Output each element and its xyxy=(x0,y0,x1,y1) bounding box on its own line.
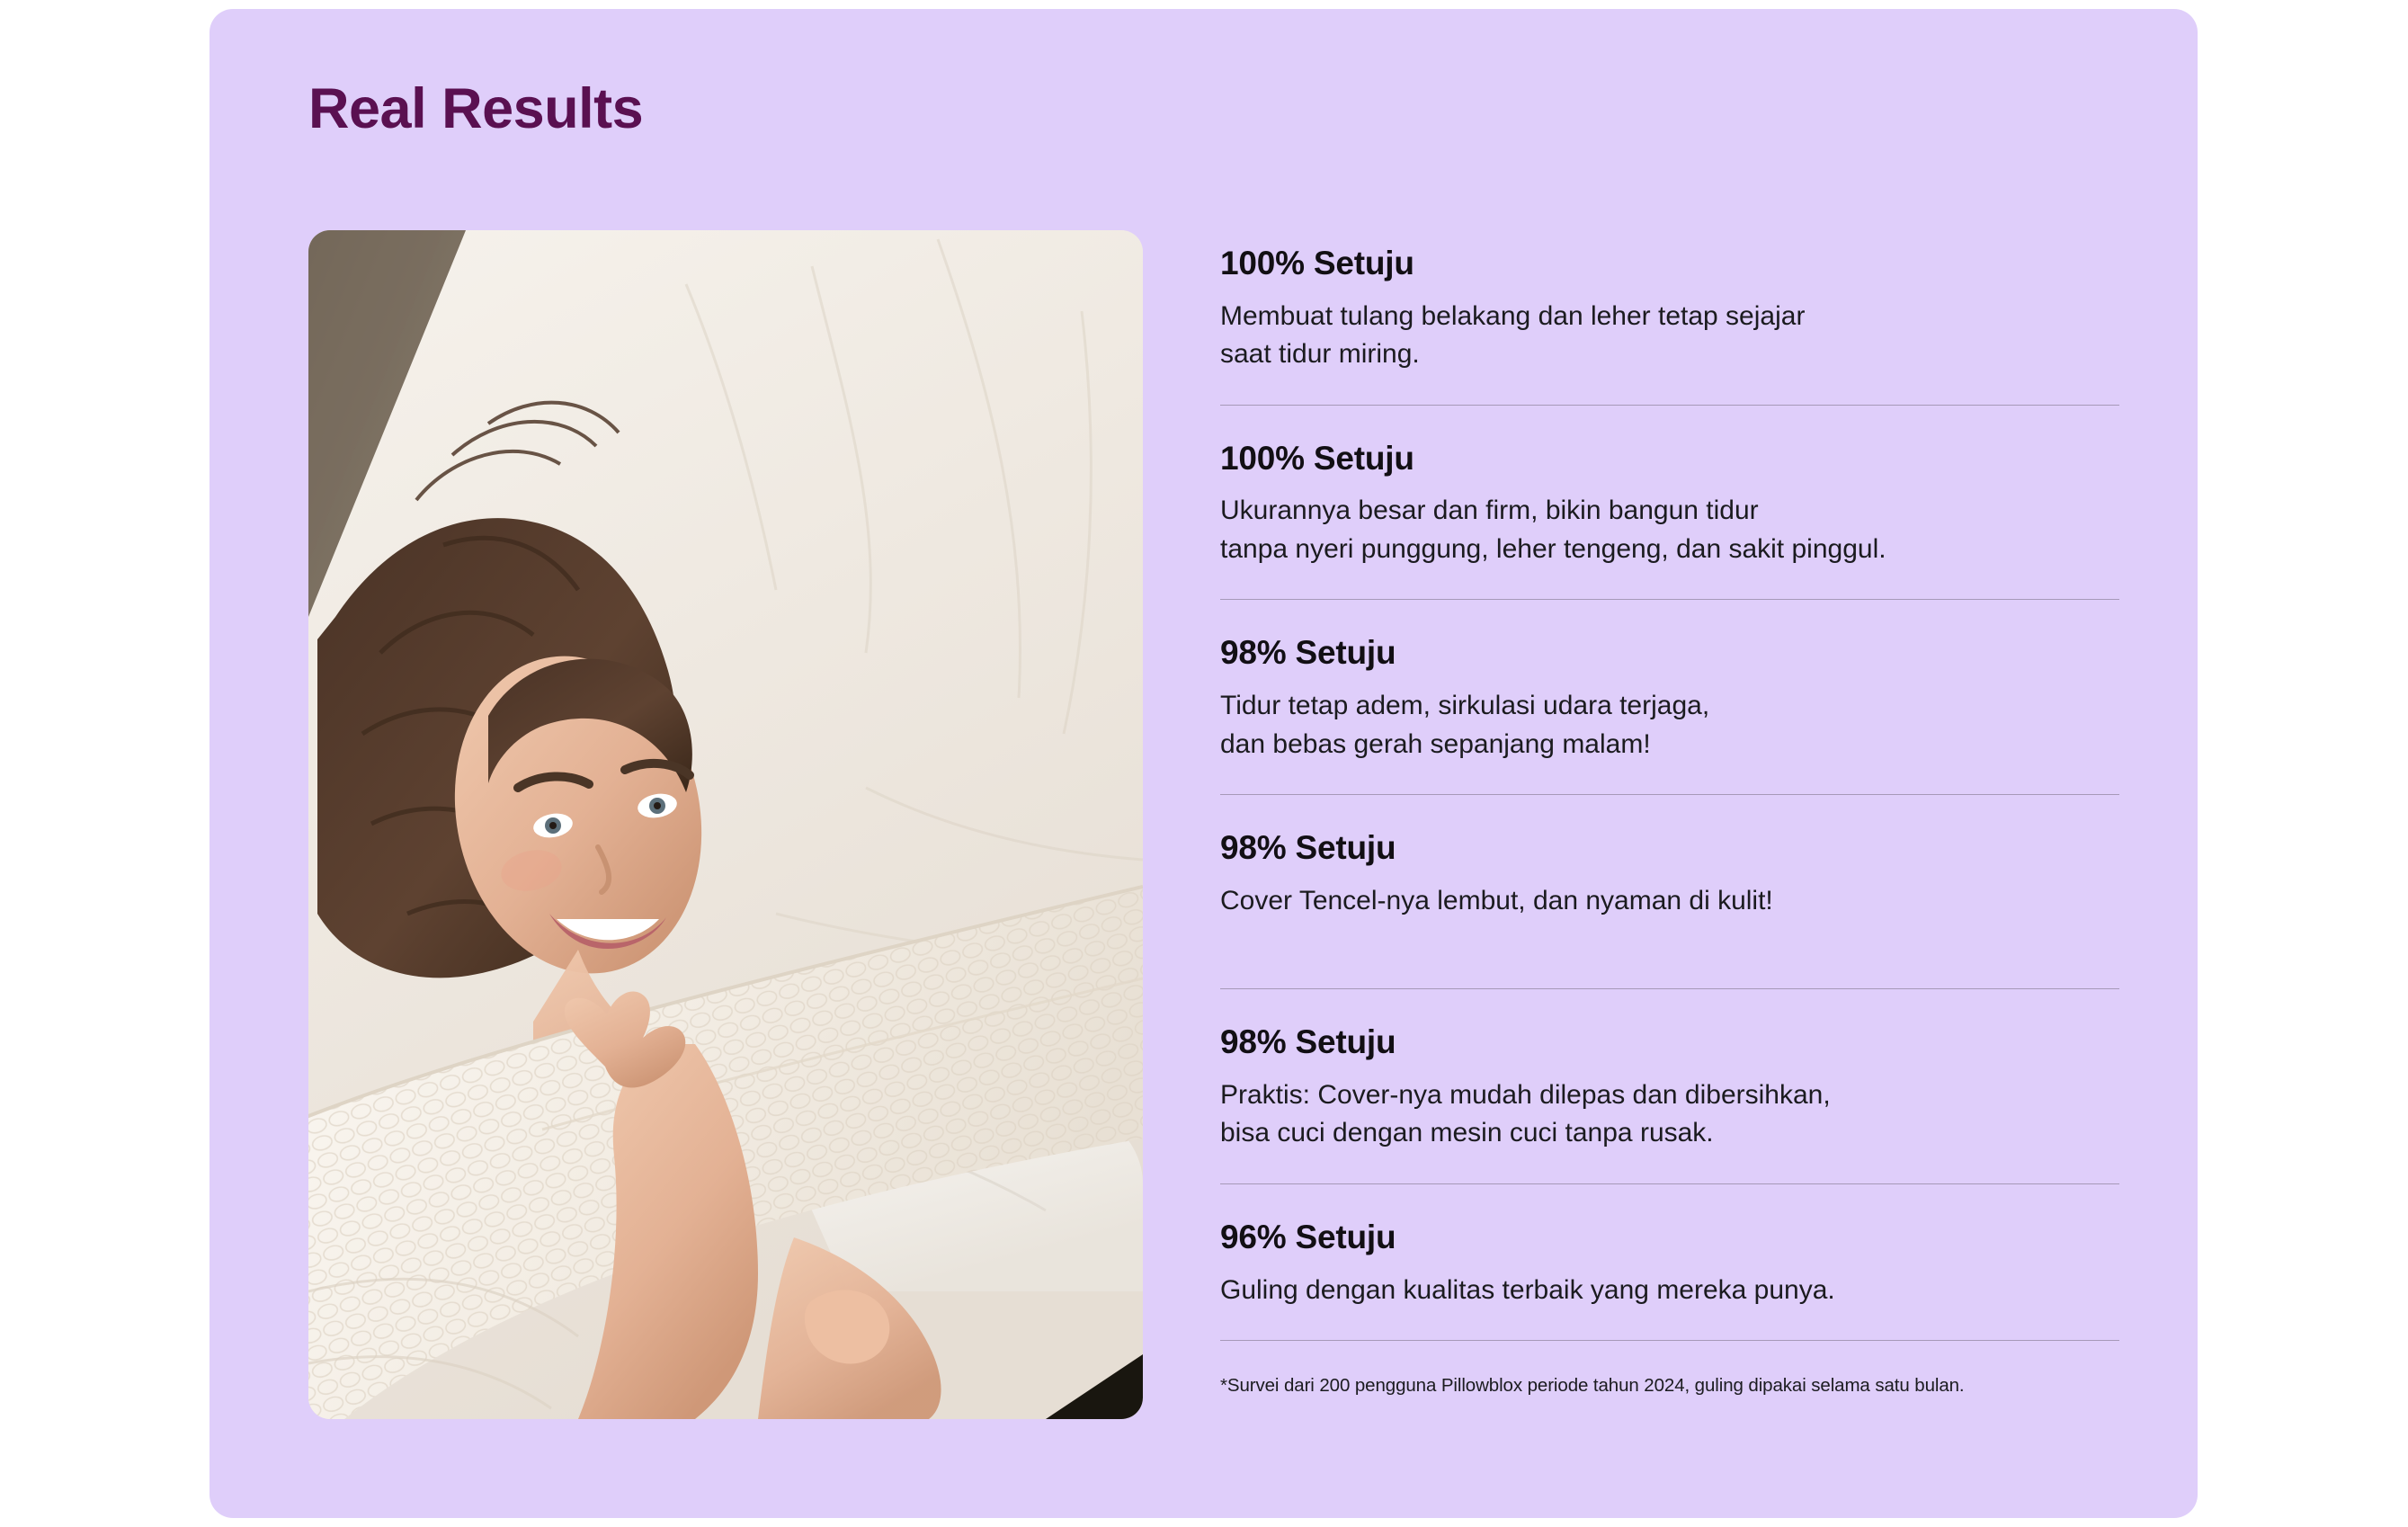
result-percent: 98% Setuju xyxy=(1220,1023,2119,1062)
result-item: 98% Setuju Praktis: Cover-nya mudah dile… xyxy=(1220,1023,2119,1153)
spacer xyxy=(1220,1184,2119,1219)
result-divider xyxy=(1220,405,2119,406)
result-percent: 100% Setuju xyxy=(1220,245,2119,283)
spacer xyxy=(1220,406,2119,440)
result-percent: 98% Setuju xyxy=(1220,829,2119,868)
result-description: Guling dengan kualitas terbaik yang mere… xyxy=(1220,1272,2119,1310)
spacer xyxy=(1220,795,2119,829)
spacer xyxy=(1220,1153,2119,1183)
result-divider xyxy=(1220,1183,2119,1184)
result-item: 96% Setuju Guling dengan kualitas terbai… xyxy=(1220,1219,2119,1309)
photo-illustration xyxy=(308,230,1143,1419)
result-percent: 98% Setuju xyxy=(1220,634,2119,673)
result-percent: 100% Setuju xyxy=(1220,440,2119,478)
result-divider xyxy=(1220,599,2119,600)
result-description: Membuat tulang belakang dan leher tetap … xyxy=(1220,298,2119,374)
result-description: Ukurannya besar dan firm, bikin bangun t… xyxy=(1220,492,2119,568)
result-item: 98% Setuju Cover Tencel-nya lembut, dan … xyxy=(1220,829,2119,920)
results-list: 100% Setuju Membuat tulang belakang dan … xyxy=(1220,245,2119,1399)
lifestyle-photo xyxy=(308,230,1143,1419)
spacer xyxy=(1220,374,2119,405)
survey-footnote: *Survei dari 200 pengguna Pillowblox per… xyxy=(1220,1373,2119,1399)
spacer xyxy=(1220,763,2119,794)
spacer xyxy=(1220,568,2119,599)
real-results-card: Real Results xyxy=(210,9,2198,1518)
page-root: Real Results xyxy=(0,0,2408,1527)
result-item: 98% Setuju Tidur tetap adem, sirkulasi u… xyxy=(1220,634,2119,763)
spacer xyxy=(1220,920,2119,988)
result-divider xyxy=(1220,988,2119,989)
spacer xyxy=(1220,989,2119,1023)
result-description: Cover Tencel-nya lembut, dan nyaman di k… xyxy=(1220,882,2119,921)
result-description: Tidur tetap adem, sirkulasi udara terjag… xyxy=(1220,687,2119,763)
page-title: Real Results xyxy=(308,81,643,138)
spacer xyxy=(1220,1309,2119,1340)
result-description: Praktis: Cover-nya mudah dilepas dan dib… xyxy=(1220,1076,2119,1153)
spacer xyxy=(1220,600,2119,634)
result-percent: 96% Setuju xyxy=(1220,1219,2119,1257)
result-divider xyxy=(1220,1340,2119,1341)
result-item: 100% Setuju Membuat tulang belakang dan … xyxy=(1220,245,2119,374)
result-item: 100% Setuju Ukurannya besar dan firm, bi… xyxy=(1220,440,2119,569)
result-divider xyxy=(1220,794,2119,795)
